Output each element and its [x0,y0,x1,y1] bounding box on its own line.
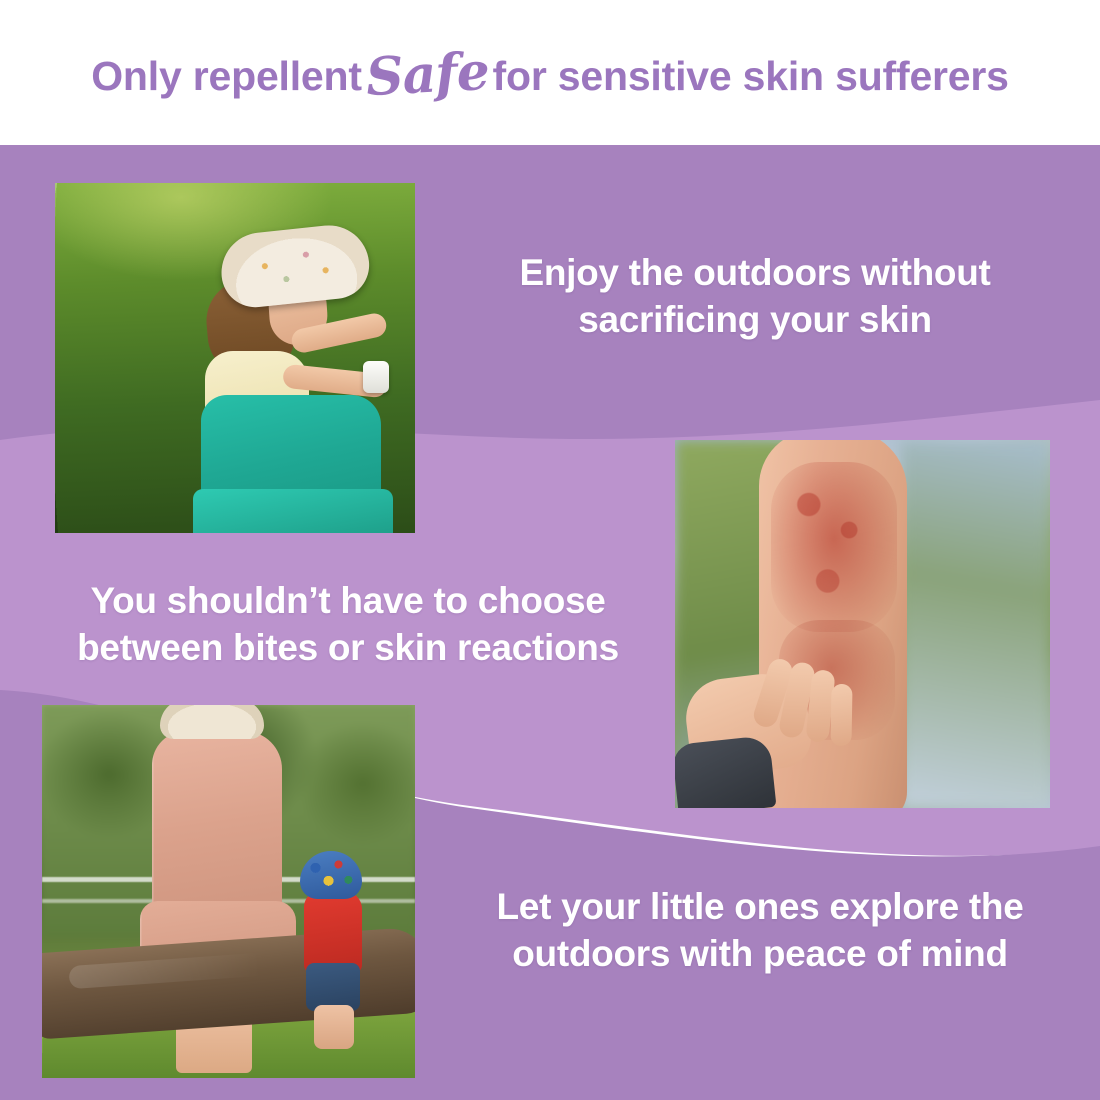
copy-line: Enjoy the outdoors without [470,250,1040,297]
copy-block-no-choose: You shouldn’t have to choose between bit… [38,578,658,671]
header-text-after: for sensitive skin sufferers [493,53,1009,100]
finger-little [830,684,852,746]
toddler-legs [314,1005,354,1049]
header-script-word: Safe [360,41,494,109]
repellent-bottle [363,361,389,393]
copy-line: outdoors with peace of mind [450,931,1070,978]
copy-line: Let your little ones explore the [450,884,1070,931]
header-band: Only repellent Safe for sensitive skin s… [0,0,1100,145]
header-headline: Only repellent Safe for sensitive skin s… [91,42,1009,103]
toddler-shorts [306,963,360,1011]
copy-line: sacrificing your skin [470,297,1040,344]
background-foliage-right [900,440,1050,808]
copy-block-enjoy-outdoors: Enjoy the outdoors without sacrificing y… [470,250,1040,343]
wrist-sleeve [675,735,776,808]
copy-line: between bites or skin reactions [38,625,658,672]
woman-sun-hat [160,705,264,739]
copy-line: You shouldn’t have to choose [38,578,658,625]
photo-rash-on-leg [675,440,1050,808]
girl-teal-dress [201,395,381,533]
copy-block-little-ones: Let your little ones explore the outdoor… [450,884,1070,977]
poster-canvas: Only repellent Safe for sensitive skin s… [0,0,1100,1100]
header-text-before: Only repellent [91,53,362,100]
photo-woman-and-toddler [42,705,415,1078]
photo-girl-applying-repellent [55,183,415,533]
rash-upper [771,462,897,632]
toddler-red-shirt [304,891,362,973]
